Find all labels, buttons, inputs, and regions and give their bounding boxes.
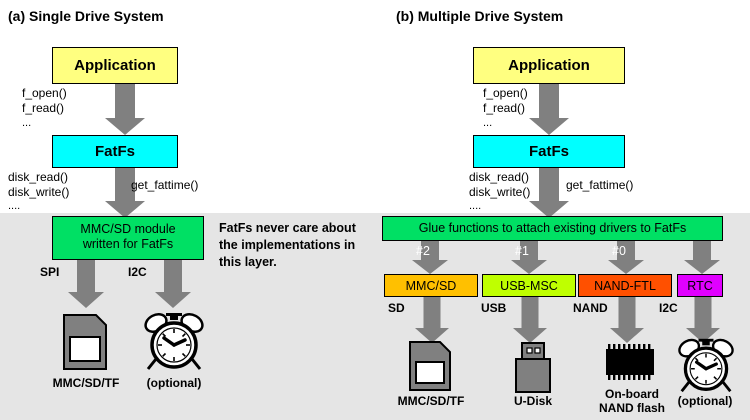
panel-b-fatfs-box: FatFs bbox=[473, 135, 625, 168]
panel-b-driver-box-rtc: RTC bbox=[677, 274, 723, 297]
panel-b-ellipsis-label: ... bbox=[483, 117, 492, 129]
panel-a-diskread-label: disk_read() bbox=[8, 170, 68, 184]
panel-b-arrow-fatfs-to-glue bbox=[529, 168, 569, 218]
panel-b-dots-label: .... bbox=[469, 200, 481, 212]
panel-b-arrow-app-to-fatfs bbox=[529, 84, 569, 135]
panel-a-rtc-caption: (optional) bbox=[124, 376, 224, 390]
panel-b-diskread-label: disk_read() bbox=[469, 170, 529, 184]
panel-b-arrow-bus-usb bbox=[513, 297, 547, 344]
panel-b-caption-nand: On-boardNAND flash bbox=[594, 387, 670, 415]
panel-a-spi-label: SPI bbox=[40, 265, 59, 279]
panel-b-drive-number-1: #1 bbox=[509, 244, 535, 258]
alarm-clock-icon bbox=[143, 310, 205, 372]
figure-canvas: (a) Single Drive System Application f_op… bbox=[0, 0, 750, 420]
panel-b-caption-mmcsd: MMC/SD/TF bbox=[379, 394, 483, 408]
panel-b-bus-label-usb: USB bbox=[481, 301, 506, 315]
panel-a-fopen-label: f_open() bbox=[22, 86, 67, 100]
panel-b-caption-nand-line1: On-board bbox=[605, 387, 659, 401]
alarm-clock-icon bbox=[676, 336, 736, 394]
panel-b-fread-label: f_read() bbox=[483, 101, 525, 115]
panel-b-arrow-bus-sd bbox=[415, 297, 449, 344]
panel-a-title: (a) Single Drive System bbox=[8, 8, 164, 24]
panel-a-arrow-fatfs-to-module bbox=[105, 168, 145, 218]
panel-b-caption-nand-line2: NAND flash bbox=[599, 401, 665, 415]
panel-b-bus-label-sd: SD bbox=[388, 301, 405, 315]
panel-a-arrow-spi bbox=[68, 260, 104, 308]
panel-b-application-box: Application bbox=[473, 47, 625, 84]
panel-a-arrow-app-to-fatfs bbox=[105, 84, 145, 135]
panel-b-caption-udisk: U-Disk bbox=[495, 394, 571, 408]
panel-b-bus-label-i2c: I2C bbox=[659, 301, 678, 315]
nand-flash-chip-icon bbox=[602, 344, 658, 380]
panel-b-drive-number-0: #0 bbox=[606, 244, 632, 258]
panel-a-arrow-i2c bbox=[155, 260, 191, 308]
panel-b-driver-box-mmcsd: MMC/SD bbox=[384, 274, 478, 297]
panel-b-title: (b) Multiple Drive System bbox=[396, 8, 563, 24]
panel-b-caption-rtc: (optional) bbox=[660, 394, 750, 408]
panel-a-ellipsis-label: ... bbox=[22, 117, 31, 129]
panel-b-arrow-rtc bbox=[684, 241, 720, 274]
panel-a-fread-label: f_read() bbox=[22, 101, 64, 115]
implementation-layer-note: FatFs never care about the implementatio… bbox=[219, 220, 369, 271]
sd-card-icon bbox=[405, 340, 457, 392]
panel-b-driver-box-usbmsc: USB-MSC bbox=[482, 274, 576, 297]
sd-card-icon bbox=[58, 313, 114, 371]
panel-b-driver-box-nandftl: NAND-FTL bbox=[578, 274, 672, 297]
panel-b-drive-number-2: #2 bbox=[410, 244, 436, 258]
panel-a-diskwrite-label: disk_write() bbox=[8, 185, 69, 199]
panel-b-bus-label-nand: NAND bbox=[573, 301, 608, 315]
panel-a-sd-caption: MMC/SD/TF bbox=[34, 376, 138, 390]
panel-a-mmcsd-module-box: MMC/SD module written for FatFs bbox=[52, 216, 204, 260]
panel-b-glue-box: Glue functions to attach existing driver… bbox=[382, 216, 723, 241]
panel-b-fopen-label: f_open() bbox=[483, 86, 528, 100]
usb-drive-icon bbox=[508, 340, 558, 394]
panel-b-arrow-bus-nand bbox=[610, 297, 644, 344]
panel-a-application-box: Application bbox=[52, 47, 178, 84]
panel-a-mmcsd-module-line1: MMC/SD module bbox=[53, 222, 203, 237]
panel-a-getfattime-label: get_fattime() bbox=[131, 178, 198, 192]
panel-a-dots-label: .... bbox=[8, 200, 20, 212]
panel-a-mmcsd-module-line2: written for FatFs bbox=[53, 237, 203, 252]
panel-b-getfattime-label: get_fattime() bbox=[566, 178, 633, 192]
panel-a-i2c-label: I2C bbox=[128, 265, 147, 279]
panel-b-diskwrite-label: disk_write() bbox=[469, 185, 530, 199]
panel-a-fatfs-box: FatFs bbox=[52, 135, 178, 168]
